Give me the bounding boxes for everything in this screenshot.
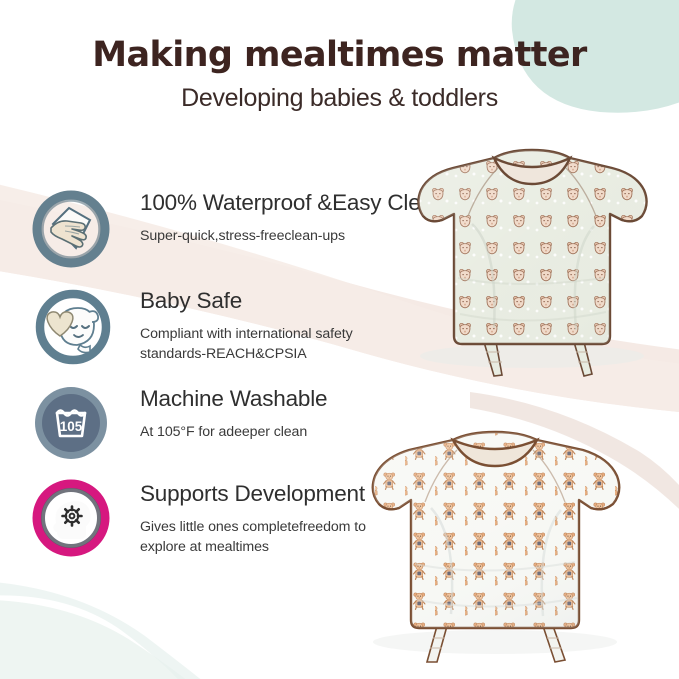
feature-subtext-line1: Compliant with international safety [140, 326, 353, 342]
product-shadow [420, 344, 644, 368]
head-gear-development-icon [32, 479, 110, 557]
page-subtitle: Developing babies & toddlers [0, 84, 679, 113]
pale-mint-curve-outline [0, 580, 226, 679]
baby-face-heart-icon [32, 288, 110, 366]
infographic-canvas: Making mealtimes matter Developing babie… [0, 0, 679, 679]
product-image-sage-bib [398, 128, 666, 380]
bib-body [345, 408, 645, 666]
feature-subtext-line2: standards-REACH&CPSIA [140, 346, 307, 362]
hand-wiping-cloth-icon [32, 190, 110, 268]
washing-machine-105-icon: 105 [32, 384, 110, 462]
product-image-white-bib [345, 408, 645, 666]
bib-body [398, 128, 666, 380]
header-block: Making mealtimes matter Developing babie… [0, 36, 679, 113]
feature-subtext-line1: Gives little ones completefreedom to [140, 519, 366, 535]
pale-mint-curve-bottom-left [0, 600, 210, 679]
wash-temperature-label: 105 [60, 419, 83, 434]
product-shadow [373, 630, 617, 654]
hand-shape [51, 221, 86, 247]
page-title: Making mealtimes matter [0, 36, 679, 75]
feature-subtext-line2: explore at mealtimes [140, 539, 269, 555]
